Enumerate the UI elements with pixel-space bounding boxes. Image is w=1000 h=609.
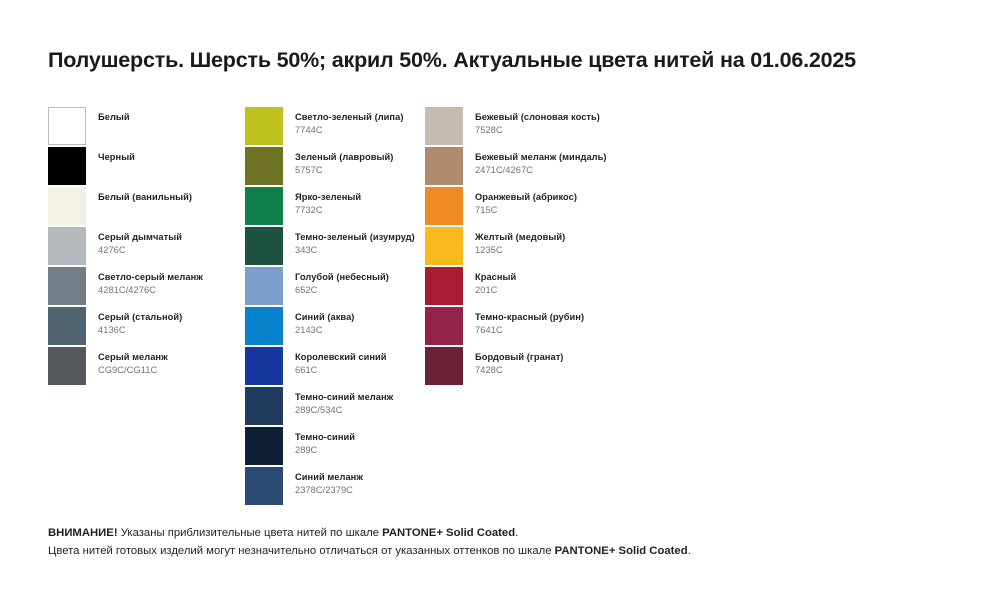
swatch-text: Темно-красный (рубин)7641C — [475, 307, 584, 337]
swatch-row[interactable]: Серый меланжCG9C/CG11C — [48, 347, 245, 387]
color-swatch[interactable] — [425, 227, 463, 265]
footer-attention-label: ВНИМАНИЕ! — [48, 527, 118, 539]
footer-note: ВНИМАНИЕ! Указаны приблизительные цвета … — [48, 524, 968, 561]
swatch-pantone-code: CG9C/CG11C — [98, 365, 168, 377]
swatch-row[interactable]: Серый дымчатый4276C — [48, 227, 245, 267]
color-chart-page: Полушерсть. Шерсть 50%; акрил 50%. Актуа… — [0, 0, 1000, 609]
swatch-name: Зеленый (лавровый) — [295, 152, 393, 164]
swatch-text: Бежевый меланж (миндаль)2471C/4267C — [475, 147, 607, 177]
swatch-pantone-code: 661C — [295, 365, 387, 377]
swatch-row[interactable]: Серый (стальной)4136C — [48, 307, 245, 347]
swatch-text: Оранжевый (абрикос)715C — [475, 187, 577, 217]
swatch-text: Черный — [98, 147, 135, 164]
column-neutrals: БелыйЧерныйБелый (ванильный)Серый дымчат… — [48, 107, 245, 387]
swatch-text: Синий меланж2378C/2379C — [295, 467, 363, 497]
swatch-name: Ярко-зеленый — [295, 192, 361, 204]
swatch-pantone-code: 4136C — [98, 325, 182, 337]
swatch-row[interactable]: Оранжевый (абрикос)715C — [425, 187, 725, 227]
swatch-name: Королевский синий — [295, 352, 387, 364]
swatch-row[interactable]: Зеленый (лавровый)5757C — [245, 147, 425, 187]
swatch-row[interactable]: Черный — [48, 147, 245, 187]
swatch-row[interactable]: Голубой (небесный)652C — [245, 267, 425, 307]
swatch-row[interactable]: Белый — [48, 107, 245, 147]
swatch-row[interactable]: Синий (аква)2143C — [245, 307, 425, 347]
column-warm-reds: Бежевый (слоновая кость)7528CБежевый мел… — [425, 107, 725, 387]
swatch-name: Темно-зеленый (изумруд) — [295, 232, 415, 244]
color-swatch[interactable] — [425, 187, 463, 225]
swatch-text: Голубой (небесный)652C — [295, 267, 389, 297]
swatch-name: Голубой (небесный) — [295, 272, 389, 284]
swatch-text: Светло-зеленый (липа)7744C — [295, 107, 403, 137]
column-greens-blues: Светло-зеленый (липа)7744CЗеленый (лавро… — [245, 107, 425, 507]
swatch-row[interactable]: Бордовый (гранат)7428C — [425, 347, 725, 387]
swatch-row[interactable]: Желтый (медовый)1235C — [425, 227, 725, 267]
swatch-row[interactable]: Темно-зеленый (изумруд)343C — [245, 227, 425, 267]
footer-line-1: ВНИМАНИЕ! Указаны приблизительные цвета … — [48, 524, 968, 542]
swatch-name: Светло-серый меланж — [98, 272, 203, 284]
footer-line-2-end: . — [688, 545, 691, 557]
swatch-text: Серый (стальной)4136C — [98, 307, 182, 337]
color-swatch[interactable] — [425, 107, 463, 145]
swatch-name: Темно-синий меланж — [295, 392, 393, 404]
swatch-pantone-code: 7641C — [475, 325, 584, 337]
swatch-name: Светло-зеленый (липа) — [295, 112, 403, 124]
swatch-name: Бежевый меланж (миндаль) — [475, 152, 607, 164]
swatch-text: Ярко-зеленый7732C — [295, 187, 361, 217]
color-swatch[interactable] — [48, 227, 86, 265]
swatch-text: Королевский синий661C — [295, 347, 387, 377]
swatch-text: Темно-синий меланж289C/534C — [295, 387, 393, 417]
swatch-text: Серый меланжCG9C/CG11C — [98, 347, 168, 377]
swatch-row[interactable]: Красный201C — [425, 267, 725, 307]
swatch-name: Серый дымчатый — [98, 232, 182, 244]
swatch-name: Синий меланж — [295, 472, 363, 484]
swatch-name: Бордовый (гранат) — [475, 352, 563, 364]
swatch-name: Желтый (медовый) — [475, 232, 565, 244]
color-swatch[interactable] — [245, 347, 283, 385]
swatch-pantone-code: 2471C/4267C — [475, 165, 607, 177]
swatch-row[interactable]: Белый (ванильный) — [48, 187, 245, 227]
swatch-name: Темно-синий — [295, 432, 355, 444]
swatch-pantone-code: 7744C — [295, 125, 403, 137]
swatch-text: Белый — [98, 107, 130, 124]
color-swatch[interactable] — [425, 267, 463, 305]
swatch-text: Желтый (медовый)1235C — [475, 227, 565, 257]
swatch-name: Черный — [98, 152, 135, 164]
swatch-pantone-code: 5757C — [295, 165, 393, 177]
swatch-text: Белый (ванильный) — [98, 187, 192, 204]
swatch-pantone-code: 7732C — [295, 205, 361, 217]
swatch-pantone-code: 715C — [475, 205, 577, 217]
swatch-pantone-code: 2378C/2379C — [295, 485, 363, 497]
swatch-name: Белый — [98, 112, 130, 124]
swatch-name: Синий (аква) — [295, 312, 354, 324]
color-swatch[interactable] — [425, 347, 463, 385]
swatch-text: Зеленый (лавровый)5757C — [295, 147, 393, 177]
swatch-row[interactable]: Синий меланж2378C/2379C — [245, 467, 425, 507]
swatch-row[interactable]: Бежевый (слоновая кость)7528C — [425, 107, 725, 147]
footer-line-1-end: . — [515, 527, 518, 539]
color-swatch[interactable] — [245, 387, 283, 425]
color-swatch[interactable] — [245, 467, 283, 505]
color-swatch[interactable] — [245, 147, 283, 185]
swatch-name: Оранжевый (абрикос) — [475, 192, 577, 204]
page-title: Полушерсть. Шерсть 50%; акрил 50%. Актуа… — [48, 48, 968, 73]
color-swatch[interactable] — [425, 307, 463, 345]
swatch-row[interactable]: Светло-серый меланж4281C/4276C — [48, 267, 245, 307]
swatch-columns: БелыйЧерныйБелый (ванильный)Серый дымчат… — [48, 107, 968, 507]
footer-brand-1: PANTONE+ Solid Coated — [382, 527, 515, 539]
swatch-row[interactable]: Светло-зеленый (липа)7744C — [245, 107, 425, 147]
swatch-text: Бордовый (гранат)7428C — [475, 347, 563, 377]
swatch-text: Темно-зеленый (изумруд)343C — [295, 227, 415, 257]
swatch-row[interactable]: Темно-синий меланж289C/534C — [245, 387, 425, 427]
swatch-pantone-code: 1235C — [475, 245, 565, 257]
swatch-name: Бежевый (слоновая кость) — [475, 112, 600, 124]
swatch-pantone-code: 2143C — [295, 325, 354, 337]
footer-brand-2: PANTONE+ Solid Coated — [555, 545, 688, 557]
swatch-row[interactable]: Темно-красный (рубин)7641C — [425, 307, 725, 347]
swatch-name: Серый меланж — [98, 352, 168, 364]
swatch-name: Белый (ванильный) — [98, 192, 192, 204]
footer-line-2: Цвета нитей готовых изделий могут незнач… — [48, 542, 968, 560]
swatch-text: Серый дымчатый4276C — [98, 227, 182, 257]
color-swatch[interactable] — [48, 107, 86, 145]
swatch-name: Красный — [475, 272, 516, 284]
swatch-text: Синий (аква)2143C — [295, 307, 354, 337]
swatch-pantone-code: 7428C — [475, 365, 563, 377]
swatch-name: Темно-красный (рубин) — [475, 312, 584, 324]
swatch-pantone-code: 652C — [295, 285, 389, 297]
color-swatch[interactable] — [245, 427, 283, 465]
swatch-pantone-code: 4276C — [98, 245, 182, 257]
swatch-text: Красный201C — [475, 267, 516, 297]
swatch-row[interactable]: Бежевый меланж (миндаль)2471C/4267C — [425, 147, 725, 187]
swatch-row[interactable]: Ярко-зеленый7732C — [245, 187, 425, 227]
swatch-row[interactable]: Королевский синий661C — [245, 347, 425, 387]
swatch-text: Бежевый (слоновая кость)7528C — [475, 107, 600, 137]
swatch-name: Серый (стальной) — [98, 312, 182, 324]
color-swatch[interactable] — [245, 107, 283, 145]
color-swatch[interactable] — [48, 187, 86, 225]
color-swatch[interactable] — [245, 187, 283, 225]
swatch-pantone-code: 343C — [295, 245, 415, 257]
color-swatch[interactable] — [245, 267, 283, 305]
color-swatch[interactable] — [48, 347, 86, 385]
swatch-pantone-code: 7528C — [475, 125, 600, 137]
color-swatch[interactable] — [48, 307, 86, 345]
swatch-text: Темно-синий289C — [295, 427, 355, 457]
color-swatch[interactable] — [245, 307, 283, 345]
swatch-pantone-code: 289C — [295, 445, 355, 457]
swatch-text: Светло-серый меланж4281C/4276C — [98, 267, 203, 297]
color-swatch[interactable] — [245, 227, 283, 265]
swatch-pantone-code: 289C/534C — [295, 405, 393, 417]
swatch-pantone-code: 201C — [475, 285, 516, 297]
footer-line-1-text: Указаны приблизительные цвета нитей по ш… — [118, 527, 383, 539]
footer-line-2-text: Цвета нитей готовых изделий могут незнач… — [48, 545, 555, 557]
color-swatch[interactable] — [48, 267, 86, 305]
swatch-row[interactable]: Темно-синий289C — [245, 427, 425, 467]
color-swatch[interactable] — [48, 147, 86, 185]
swatch-pantone-code: 4281C/4276C — [98, 285, 203, 297]
color-swatch[interactable] — [425, 147, 463, 185]
